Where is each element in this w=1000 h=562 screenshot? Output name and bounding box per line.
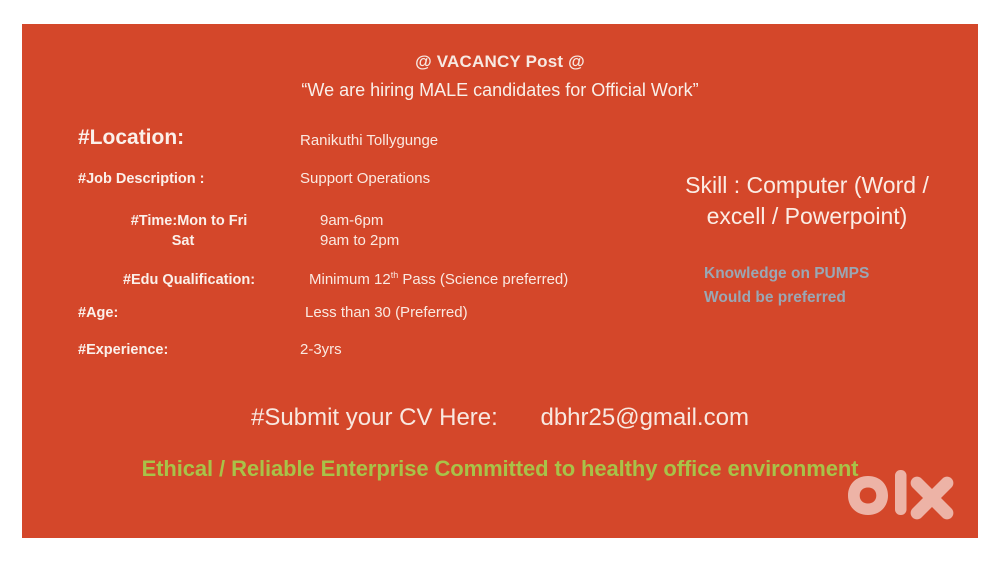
job-details-table: #Location: Ranikuthi Tollygunge #Job Des… xyxy=(78,124,638,360)
detail-label-experience: #Experience: xyxy=(78,340,300,360)
detail-label-education: #Edu Qualification: xyxy=(78,270,304,290)
pumps-knowledge-note: Knowledge on PUMPS Would be preferred xyxy=(682,262,978,310)
detail-value-time: 9am-6pm 9am to 2pm xyxy=(312,211,638,251)
detail-label-time-weekday: #Time:Mon to Fri xyxy=(131,213,248,229)
detail-row-experience: #Experience: 2-3yrs xyxy=(78,340,638,360)
detail-value-age: Less than 30 (Preferred) xyxy=(300,303,638,323)
detail-row-education: #Edu Qualification: Minimum 12th Pass (S… xyxy=(78,270,638,290)
submit-cv-block: #Submit your CV Here: dbhr25@gmail.com xyxy=(22,402,978,434)
olx-logo-watermark xyxy=(842,464,968,536)
header-title: @ VACANCY Post @ xyxy=(22,50,978,74)
flyer-header: @ VACANCY Post @ “We are hiring MALE can… xyxy=(22,50,978,104)
detail-row-time: #Time:Mon to Fri Sat 9am-6pm 9am to 2pm xyxy=(78,211,638,251)
olx-logo-icon xyxy=(842,464,968,536)
detail-label-time: #Time:Mon to Fri Sat xyxy=(78,211,312,251)
education-value-suffix: Pass (Science preferred) xyxy=(398,271,568,288)
skill-note-line2: excell / Powerpoint) xyxy=(707,203,908,229)
skill-note-line1: Skill : Computer (Word / xyxy=(685,172,929,198)
pumps-note-line2: Would be preferred xyxy=(704,289,846,306)
detail-value-experience: 2-3yrs xyxy=(300,340,638,360)
education-value-prefix: Minimum 12 xyxy=(309,271,391,288)
header-subtitle: “We are hiring MALE candidates for Offic… xyxy=(22,76,978,104)
detail-row-age: #Age: Less than 30 (Preferred) xyxy=(78,303,638,323)
detail-value-job-description: Support Operations xyxy=(300,169,638,189)
detail-value-education: Minimum 12th Pass (Science preferred) xyxy=(304,270,638,290)
detail-label-location: #Location: xyxy=(78,124,300,152)
detail-label-time-saturday: Sat xyxy=(78,231,300,251)
detail-value-location: Ranikuthi Tollygunge xyxy=(300,124,638,155)
company-tagline: Ethical / Reliable Enterprise Committed … xyxy=(22,454,978,484)
detail-row-job-description: #Job Description : Support Operations xyxy=(78,169,638,189)
detail-label-job-description: #Job Description : xyxy=(78,169,300,189)
poster-root: @ VACANCY Post @ “We are hiring MALE can… xyxy=(0,0,1000,562)
skill-requirement-note: Skill : Computer (Word / excell / Powerp… xyxy=(652,170,962,232)
detail-value-time-weekday: 9am-6pm xyxy=(320,212,383,229)
submit-cv-label: #Submit your CV Here: xyxy=(251,404,498,431)
detail-label-age: #Age: xyxy=(78,303,300,323)
vacancy-flyer-panel: @ VACANCY Post @ “We are hiring MALE can… xyxy=(22,24,978,538)
pumps-note-line1: Knowledge on PUMPS xyxy=(704,265,869,282)
detail-value-time-saturday: 9am to 2pm xyxy=(320,232,399,249)
detail-row-location: #Location: Ranikuthi Tollygunge xyxy=(78,124,638,155)
contact-email[interactable]: dbhr25@gmail.com xyxy=(540,402,748,434)
